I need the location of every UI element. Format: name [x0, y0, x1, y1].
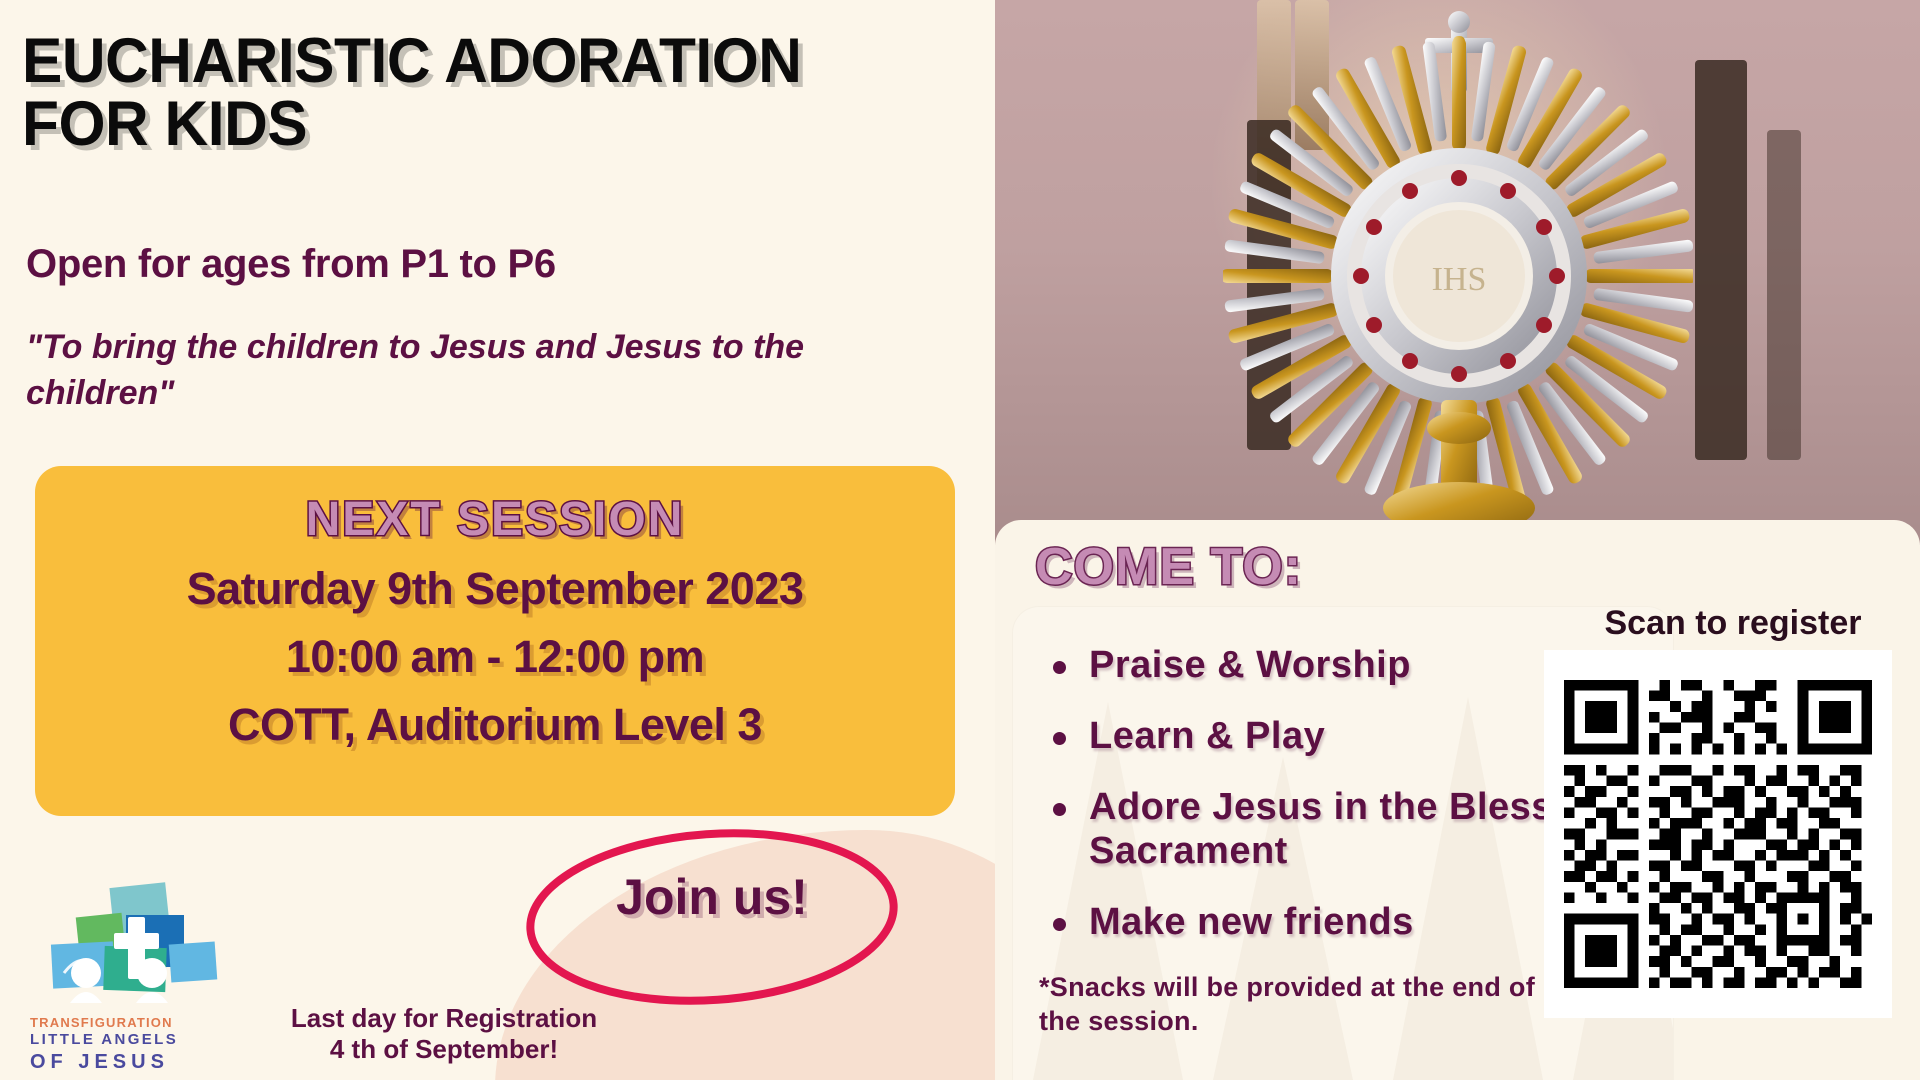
poster-root: EUCHARISTIC ADORATION FOR KIDS Open for … [0, 0, 1920, 1080]
snacks-footnote: *Snacks will be provided at the end of t… [1039, 971, 1559, 1039]
right-panel: IHS COME TO: [995, 0, 1920, 1080]
page-title: EUCHARISTIC ADORATION FOR KIDS [22, 30, 944, 156]
session-date: Saturday 9th September 2023 [35, 563, 955, 615]
logo-line-3: OF JESUS [30, 1050, 235, 1074]
come-to-heading: COME TO: [1035, 537, 1302, 597]
little-angels-emblem-icon [30, 881, 235, 1013]
session-venue: COTT, Auditorium Level 3 [35, 699, 955, 751]
logo-wordmark: TRANSFIGURATION LITTLE ANGELS OF JESUS [30, 1015, 235, 1074]
organisation-logo: TRANSFIGURATION LITTLE ANGELS OF JESUS [30, 881, 235, 1074]
page-title-line-1: EUCHARISTIC ADORATION [22, 30, 944, 93]
registration-deadline-line-1: Last day for Registration [224, 1003, 664, 1035]
logo-line-1: TRANSFIGURATION [30, 1015, 235, 1031]
session-card: NEXT SESSION Saturday 9th September 2023… [35, 466, 955, 816]
session-time: 10:00 am - 12:00 pm [35, 631, 955, 683]
logo-line-2: LITTLE ANGELS [30, 1031, 235, 1049]
join-us-label: Join us! [512, 868, 912, 926]
altar-pillar-right [1695, 60, 1747, 460]
age-range-subtitle: Open for ages from P1 to P6 [26, 242, 946, 287]
next-session-heading: NEXT SESSION [35, 492, 955, 547]
qr-code-container[interactable] [1544, 650, 1892, 1018]
mission-quote: "To bring the children to Jesus and Jesu… [26, 325, 926, 417]
registration-deadline: Last day for Registration 4 th of Septem… [224, 1003, 664, 1066]
left-panel: EUCHARISTIC ADORATION FOR KIDS Open for … [0, 0, 995, 1080]
altar-pillar-right-2 [1767, 130, 1801, 460]
scan-to-register-label: Scan to register [1568, 604, 1898, 643]
qr-code[interactable] [1564, 670, 1872, 998]
monstrance-photo: IHS [995, 0, 1920, 545]
join-us-callout[interactable]: Join us! [512, 822, 912, 1012]
page-title-line-2: FOR KIDS [22, 93, 944, 156]
registration-deadline-line-2: 4 th of September! [224, 1034, 664, 1066]
ihs-monogram: IHS [1431, 261, 1486, 298]
monstrance-icon: IHS [1223, 8, 1693, 548]
